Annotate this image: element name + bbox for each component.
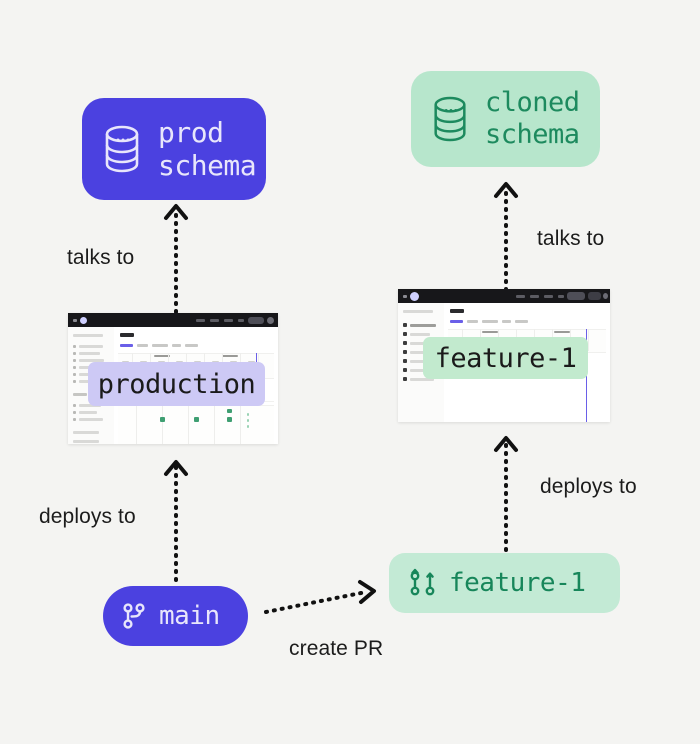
- mockup-sidebar-icon: [403, 341, 407, 345]
- mockup-sidebar-item: [410, 324, 436, 327]
- mockup-tab: [137, 344, 148, 347]
- mockup-gridline: [240, 405, 241, 444]
- mockup-tab: [482, 320, 498, 323]
- mockup-sidebar-item: [79, 411, 97, 414]
- database-icon: [100, 124, 144, 174]
- mockup-sidebar-icon: [73, 359, 76, 362]
- mockup-sidebar-item: [410, 333, 430, 336]
- mockup-event-marker: [247, 419, 249, 422]
- mockup-nav-item: [544, 295, 553, 298]
- mockup-sidebar-group: [73, 393, 87, 396]
- mockup-sidebar-item: [73, 440, 99, 443]
- mockup-sidebar-item: [73, 431, 99, 434]
- git-pull-request-icon: [409, 568, 437, 598]
- diagram-canvas: prod schema cloned schema talks to talks…: [0, 0, 700, 744]
- main-branch-label: main: [159, 601, 220, 632]
- mockup-sidebar-item: [79, 352, 100, 355]
- label-deploys-to-left: deploys to: [39, 505, 136, 529]
- prod-schema-node[interactable]: prod schema: [82, 98, 266, 200]
- label-create-pr: create PR: [289, 637, 383, 661]
- mockup-nav-item: [558, 295, 564, 298]
- database-icon: [429, 95, 471, 143]
- mockup-sidebar-icon: [403, 359, 407, 363]
- mockup-tab: [450, 320, 463, 323]
- mockup-env-pill: [567, 292, 585, 300]
- git-branch-icon: [121, 602, 147, 630]
- mockup-sidebar-icon: [73, 404, 76, 407]
- mockup-tab: [120, 344, 133, 347]
- mockup-topbar: [68, 313, 278, 327]
- mockup-nav-item: [530, 295, 539, 298]
- mockup-branch-pill: [588, 292, 601, 300]
- mockup-avatar: [267, 317, 274, 324]
- main-branch-node[interactable]: main: [103, 586, 248, 646]
- mockup-tab: [502, 320, 511, 323]
- mockup-env-pill: [248, 317, 264, 324]
- mockup-sidebar-icon: [403, 368, 407, 372]
- mockup-heatmap-grid: [118, 405, 274, 444]
- mockup-sidebar-item: [79, 418, 103, 421]
- mockup-sidebar-icon: [73, 418, 76, 421]
- mockup-sidebar-icon: [73, 366, 76, 369]
- mockup-sidebar-search: [73, 334, 103, 337]
- mockup-menu-icon: [73, 319, 77, 322]
- mockup-gridline: [162, 405, 163, 444]
- mockup-sidebar-icon: [403, 323, 407, 327]
- mockup-event-marker: [227, 409, 232, 413]
- cloned-schema-label: cloned schema: [485, 87, 580, 151]
- arrow-main-to-production: [150, 450, 210, 582]
- mockup-group-label: [222, 355, 238, 357]
- mockup-tab: [467, 320, 478, 323]
- mockup-page-title: [120, 333, 134, 337]
- mockup-group-label: [482, 331, 498, 333]
- mockup-nav-item: [238, 319, 244, 322]
- mockup-sidebar-icon: [403, 377, 407, 381]
- label-talks-to-left: talks to: [67, 246, 134, 270]
- mockup-logo-icon: [410, 292, 419, 301]
- feature-branch-badge: feature-1: [423, 337, 588, 379]
- mockup-tab: [152, 344, 168, 347]
- mockup-sidebar-icon: [73, 411, 76, 414]
- mockup-gridline: [588, 329, 589, 351]
- mockup-tab: [172, 344, 181, 347]
- mockup-sidebar-icon: [73, 380, 76, 383]
- production-branch-badge: production: [88, 362, 265, 406]
- mockup-sidebar-icon: [403, 350, 407, 354]
- mockup-event-marker: [247, 413, 249, 416]
- mockup-sidebar-icon: [73, 373, 76, 376]
- label-deploys-to-right: deploys to: [540, 475, 637, 499]
- mockup-nav-item: [516, 295, 525, 298]
- feature-branch-node[interactable]: feature-1: [389, 553, 620, 613]
- mockup-event-marker: [247, 425, 249, 428]
- feature-branch-label: feature-1: [449, 568, 585, 599]
- mockup-sidebar-item: [79, 345, 103, 348]
- mockup-event-marker: [227, 417, 232, 422]
- mockup-sidebar-search: [403, 310, 433, 313]
- mockup-gridline: [136, 405, 137, 444]
- mockup-tab: [185, 344, 198, 347]
- mockup-logo-icon: [80, 317, 87, 324]
- mockup-sidebar-icon: [73, 345, 76, 348]
- mockup-page-title: [450, 309, 464, 313]
- prod-schema-label: prod schema: [158, 116, 256, 182]
- mockup-event-marker: [194, 417, 199, 422]
- arrow-production-to-prod-schema: [150, 196, 210, 322]
- mockup-event-marker: [160, 417, 165, 422]
- mockup-nav-item: [224, 319, 233, 322]
- mockup-avatar: [603, 293, 608, 299]
- label-talks-to-right: talks to: [537, 227, 604, 251]
- cloned-schema-node[interactable]: cloned schema: [411, 71, 600, 167]
- mockup-menu-icon: [403, 295, 407, 298]
- mockup-gridline: [214, 405, 215, 444]
- arrow-feature-branch-to-feature-mockup: [480, 426, 540, 552]
- mockup-nav-item: [210, 319, 219, 322]
- mockup-tab: [515, 320, 528, 323]
- mockup-gridline: [188, 405, 189, 444]
- mockup-group-label: [554, 331, 570, 333]
- arrow-main-to-feature-branch: [262, 575, 387, 625]
- mockup-nav-item: [196, 319, 205, 322]
- mockup-sidebar-icon: [73, 352, 76, 355]
- mockup-sidebar-icon: [403, 332, 407, 336]
- arrow-feature-mockup-to-cloned-schema: [480, 172, 540, 292]
